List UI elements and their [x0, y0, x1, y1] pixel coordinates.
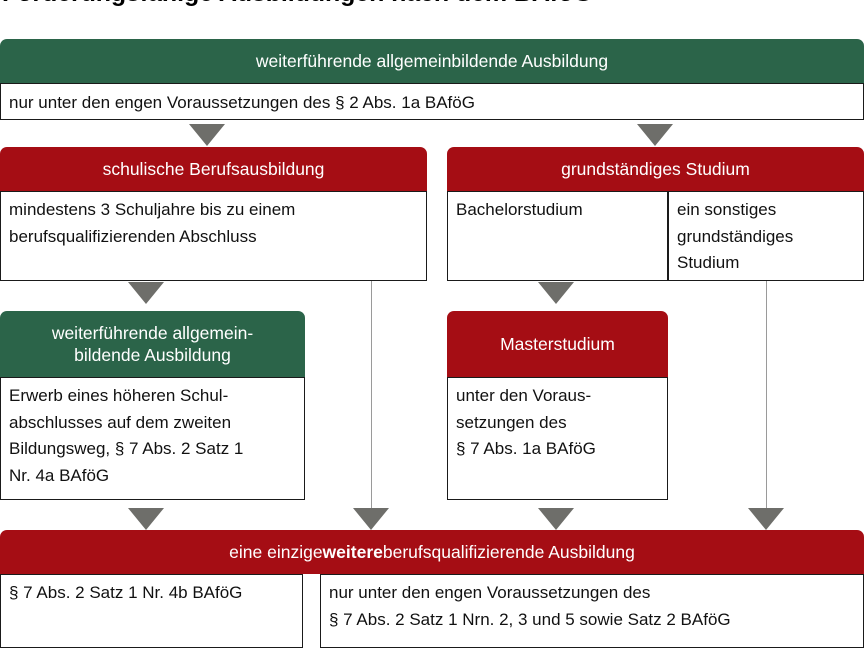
- level3-right-header: Masterstudium: [447, 311, 668, 377]
- level3-right-body: unter den Voraus- setzungen des § 7 Abs.…: [447, 377, 668, 500]
- arrow-down-icon: [189, 124, 225, 146]
- level3-left-body-line2: abschlusses auf dem zweiten: [9, 410, 296, 437]
- level3-left-body: Erwerb eines höheren Schul- abschlusses …: [0, 377, 305, 500]
- arrow-down-icon: [538, 508, 574, 530]
- level4-header: eine einzige weitere berufsqualifizieren…: [0, 530, 864, 574]
- level3-right-body-line3: § 7 Abs. 1a BAföG: [456, 436, 659, 463]
- level2-right-cell2-line1: ein sonstiges: [677, 197, 855, 224]
- level4-left-body: § 7 Abs. 2 Satz 1 Nr. 4b BAföG: [0, 574, 303, 648]
- level3-left-header: weiterführende allgemein- bildende Ausbi…: [0, 311, 305, 377]
- level3-left-body-line4: Nr. 4a BAföG: [9, 463, 296, 490]
- diagram-canvas: Förderungsfähige Ausbildungen nach dem B…: [0, 0, 864, 648]
- arrow-down-icon: [128, 282, 164, 304]
- arrow-down-icon: [748, 508, 784, 530]
- level2-right-cell2-line3: Studium: [677, 250, 855, 277]
- level1-header: weiterführende allgemeinbildende Ausbild…: [0, 39, 864, 83]
- level2-right-cell2: ein sonstiges grundständiges Studium: [668, 191, 864, 281]
- connector-line-right-bypass: [766, 281, 767, 511]
- arrow-down-icon: [128, 508, 164, 530]
- level2-right-cell1: Bachelorstudium: [447, 191, 668, 281]
- level2-left-header: schulische Berufsausbildung: [0, 147, 427, 191]
- level3-left-header-line1: weiterführende allgemein-: [52, 322, 253, 344]
- level3-left-body-line3: Bildungsweg, § 7 Abs. 2 Satz 1: [9, 436, 296, 463]
- arrow-down-icon: [538, 282, 574, 304]
- level2-right-header: grundständiges Studium: [447, 147, 864, 191]
- level4-header-post: berufsqualifizierende Ausbildung: [383, 541, 635, 563]
- level2-left-body: mindestens 3 Schuljahre bis zu einem ber…: [0, 191, 427, 281]
- connector-line-left-bypass: [371, 281, 372, 511]
- level4-header-bold: weitere: [323, 541, 383, 563]
- level4-header-pre: eine einzige: [229, 541, 322, 563]
- arrow-down-icon: [637, 124, 673, 146]
- level3-right-body-line1: unter den Voraus-: [456, 383, 659, 410]
- page-title: Förderungsfähige Ausbildungen nach dem B…: [0, 0, 864, 12]
- arrow-down-icon: [353, 508, 389, 530]
- level2-left-body-line2: berufsqualifizierenden Abschluss: [9, 224, 418, 251]
- level2-right-cell2-line2: grundständiges: [677, 224, 855, 251]
- level4-right-body-line2: § 7 Abs. 2 Satz 1 Nrn. 2, 3 und 5 sowie …: [329, 607, 855, 634]
- level2-left-body-line1: mindestens 3 Schuljahre bis zu einem: [9, 197, 418, 224]
- level4-right-body: nur unter den engen Voraussetzungen des …: [320, 574, 864, 648]
- level4-right-body-line1: nur unter den engen Voraussetzungen des: [329, 580, 855, 607]
- level3-left-body-line1: Erwerb eines höheren Schul-: [9, 383, 296, 410]
- level1-body: nur unter den engen Voraussetzungen des …: [0, 83, 864, 120]
- level3-right-body-line2: setzungen des: [456, 410, 659, 437]
- level3-left-header-line2: bildende Ausbildung: [74, 344, 231, 366]
